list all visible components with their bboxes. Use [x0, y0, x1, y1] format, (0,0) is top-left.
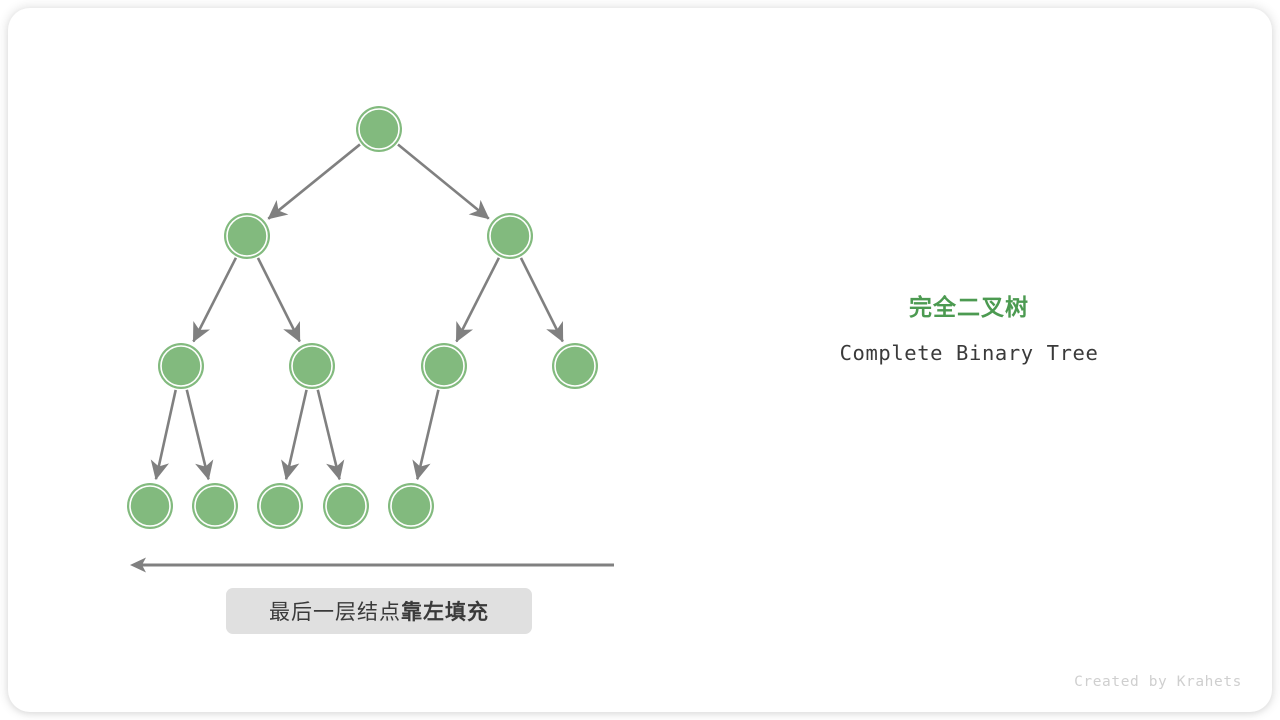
- fill-direction-arrow: [130, 558, 614, 573]
- caption-block: 完全二叉树 Complete Binary Tree: [760, 292, 1178, 366]
- tree-node: [289, 343, 335, 389]
- tree-edge-layer: [156, 144, 563, 479]
- tree-node-disc: [552, 343, 598, 389]
- caption-title: 完全二叉树: [760, 292, 1178, 322]
- annotation-badge: 最后一层结点靠左填充: [226, 588, 532, 634]
- credit-text: Created by Krahets: [0, 674, 1242, 690]
- tree-node: [224, 213, 270, 259]
- tree-node-disc: [257, 483, 303, 529]
- tree-node: [356, 106, 402, 152]
- tree-node-disc: [421, 343, 467, 389]
- tree-node-disc: [127, 483, 173, 529]
- tree-edge: [187, 390, 209, 479]
- tree-node: [323, 483, 369, 529]
- tree-edge: [156, 390, 176, 479]
- tree-node-disc: [224, 213, 270, 259]
- tree-edge: [193, 258, 235, 342]
- tree-node-disc: [158, 343, 204, 389]
- screenshot-canvas: 最后一层结点靠左填充 完全二叉树 Complete Binary Tree Cr…: [0, 0, 1280, 720]
- annotation-badge-text: 最后一层结点靠左填充: [269, 596, 489, 626]
- tree-node-disc: [289, 343, 335, 389]
- tree-edge: [318, 390, 340, 479]
- tree-edge: [398, 144, 489, 218]
- tree-node-disc: [323, 483, 369, 529]
- annotation-badge-text-emphasis: 靠左填充: [401, 601, 489, 624]
- tree-node-disc: [388, 483, 434, 529]
- tree-edge: [286, 390, 306, 479]
- tree-node: [487, 213, 533, 259]
- tree-node: [388, 483, 434, 529]
- tree-edge: [417, 390, 438, 479]
- caption-subtitle: Complete Binary Tree: [760, 340, 1178, 366]
- tree-node: [421, 343, 467, 389]
- tree-edge: [268, 144, 360, 218]
- tree-node-disc: [487, 213, 533, 259]
- annotation-badge-text-normal: 最后一层结点: [269, 601, 401, 624]
- tree-node: [127, 483, 173, 529]
- tree-node-disc: [356, 106, 402, 152]
- tree-edge: [521, 258, 563, 341]
- tree-node: [158, 343, 204, 389]
- tree-node-disc: [192, 483, 238, 529]
- tree-node: [192, 483, 238, 529]
- tree-edge: [456, 258, 498, 342]
- tree-node-layer: [127, 106, 598, 529]
- tree-node: [552, 343, 598, 389]
- tree-node: [257, 483, 303, 529]
- tree-edge: [258, 258, 300, 341]
